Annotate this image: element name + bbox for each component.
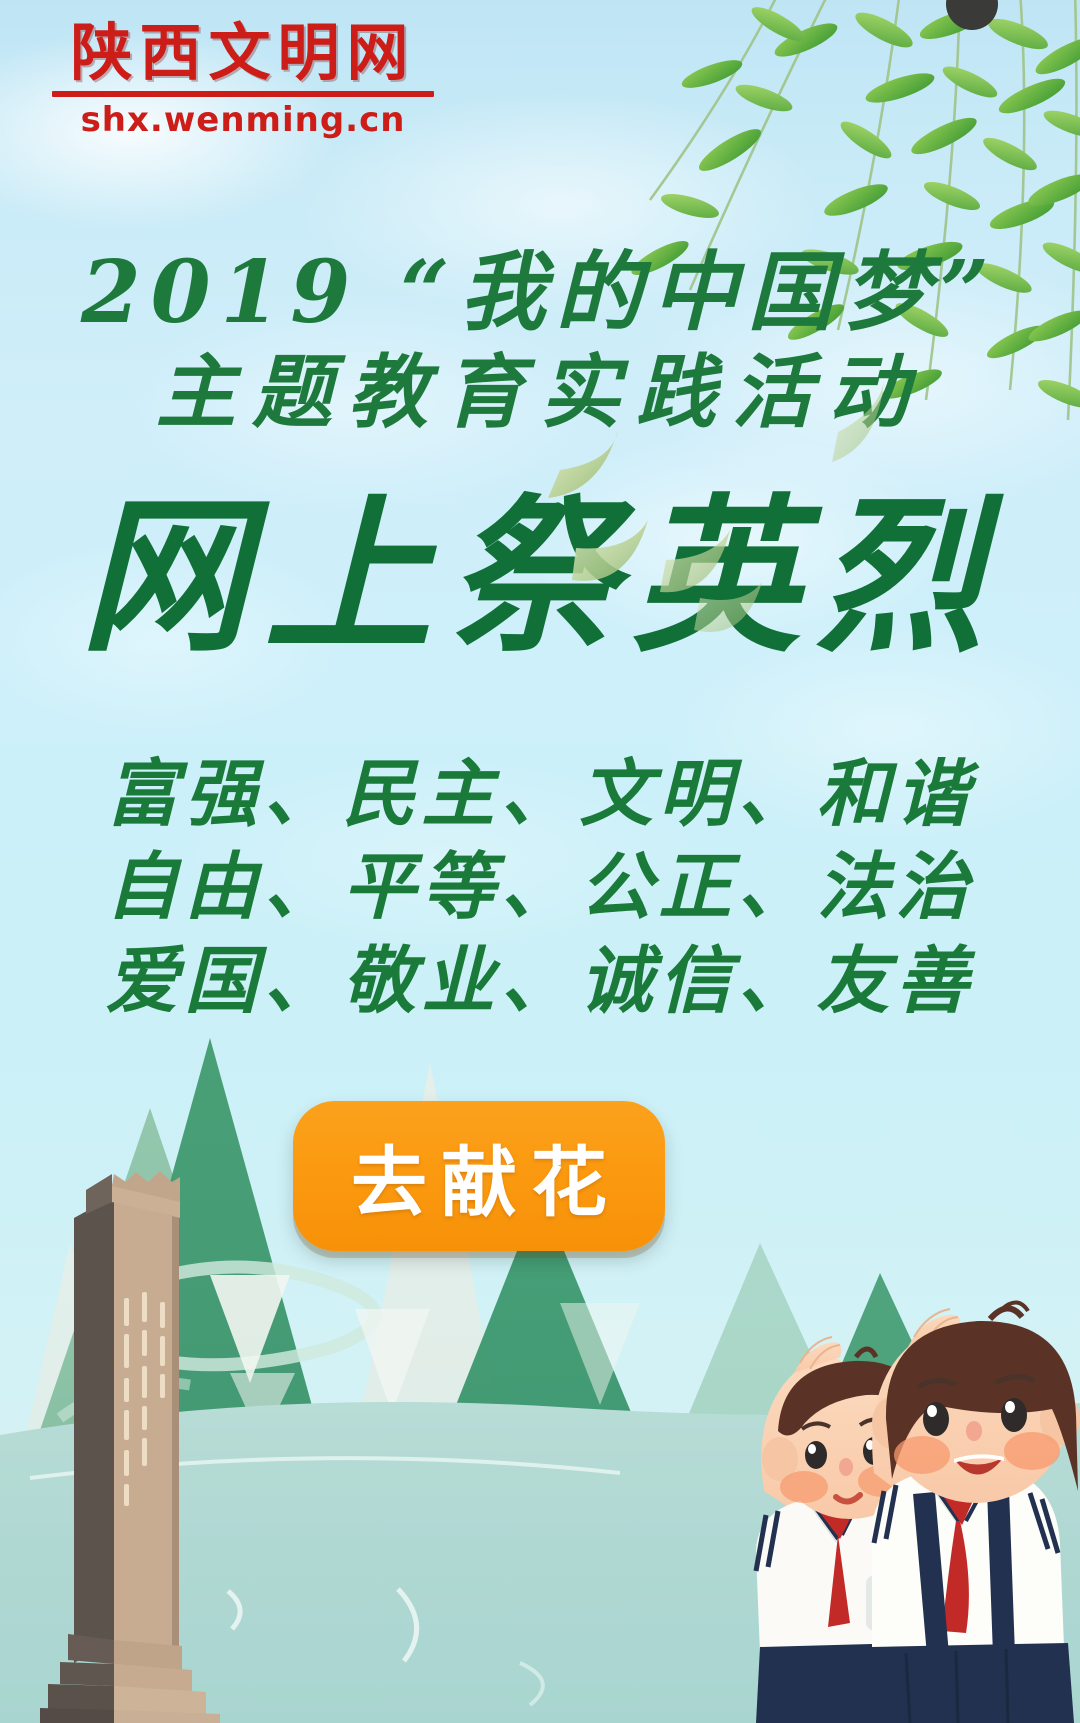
girl-student-saluting [866,1302,1080,1723]
saluting-students-illustration [660,1223,1080,1723]
site-logo-url: shx.wenming.cn [48,100,438,140]
site-logo-name: 陕西文明网 [48,20,438,87]
status-dot-icon [946,0,998,30]
lake-water [0,1363,1080,1723]
core-value-line: 自由、平等、公正、法治 [0,841,1080,934]
mountain-range [0,943,1080,1723]
logo-divider [52,91,434,97]
campaign-subtitle-line-2: 主题教育实践活动 [0,328,1080,444]
core-value-line: 富强、民主、文明、和谐 [0,748,1080,841]
offer-flowers-button[interactable]: 去献花 [293,1101,665,1251]
boy-student-saluting [756,1337,926,1723]
martyrs-memorial-monument [24,1078,324,1723]
site-logo[interactable]: 陕西文明网 shx.wenming.cn [48,20,438,140]
core-value-line: 爱国、敬业、诚信、友善 [0,935,1080,1028]
page-title: 网上祭英烈 [0,488,1080,664]
core-socialist-values: 富强、民主、文明、和谐 自由、平等、公正、法治 爱国、敬业、诚信、友善 [0,748,1080,1028]
poster-root: 陕西文明网 shx.wenming.cn 2019 “我的中国梦” 主题教育实践… [0,0,1080,1723]
